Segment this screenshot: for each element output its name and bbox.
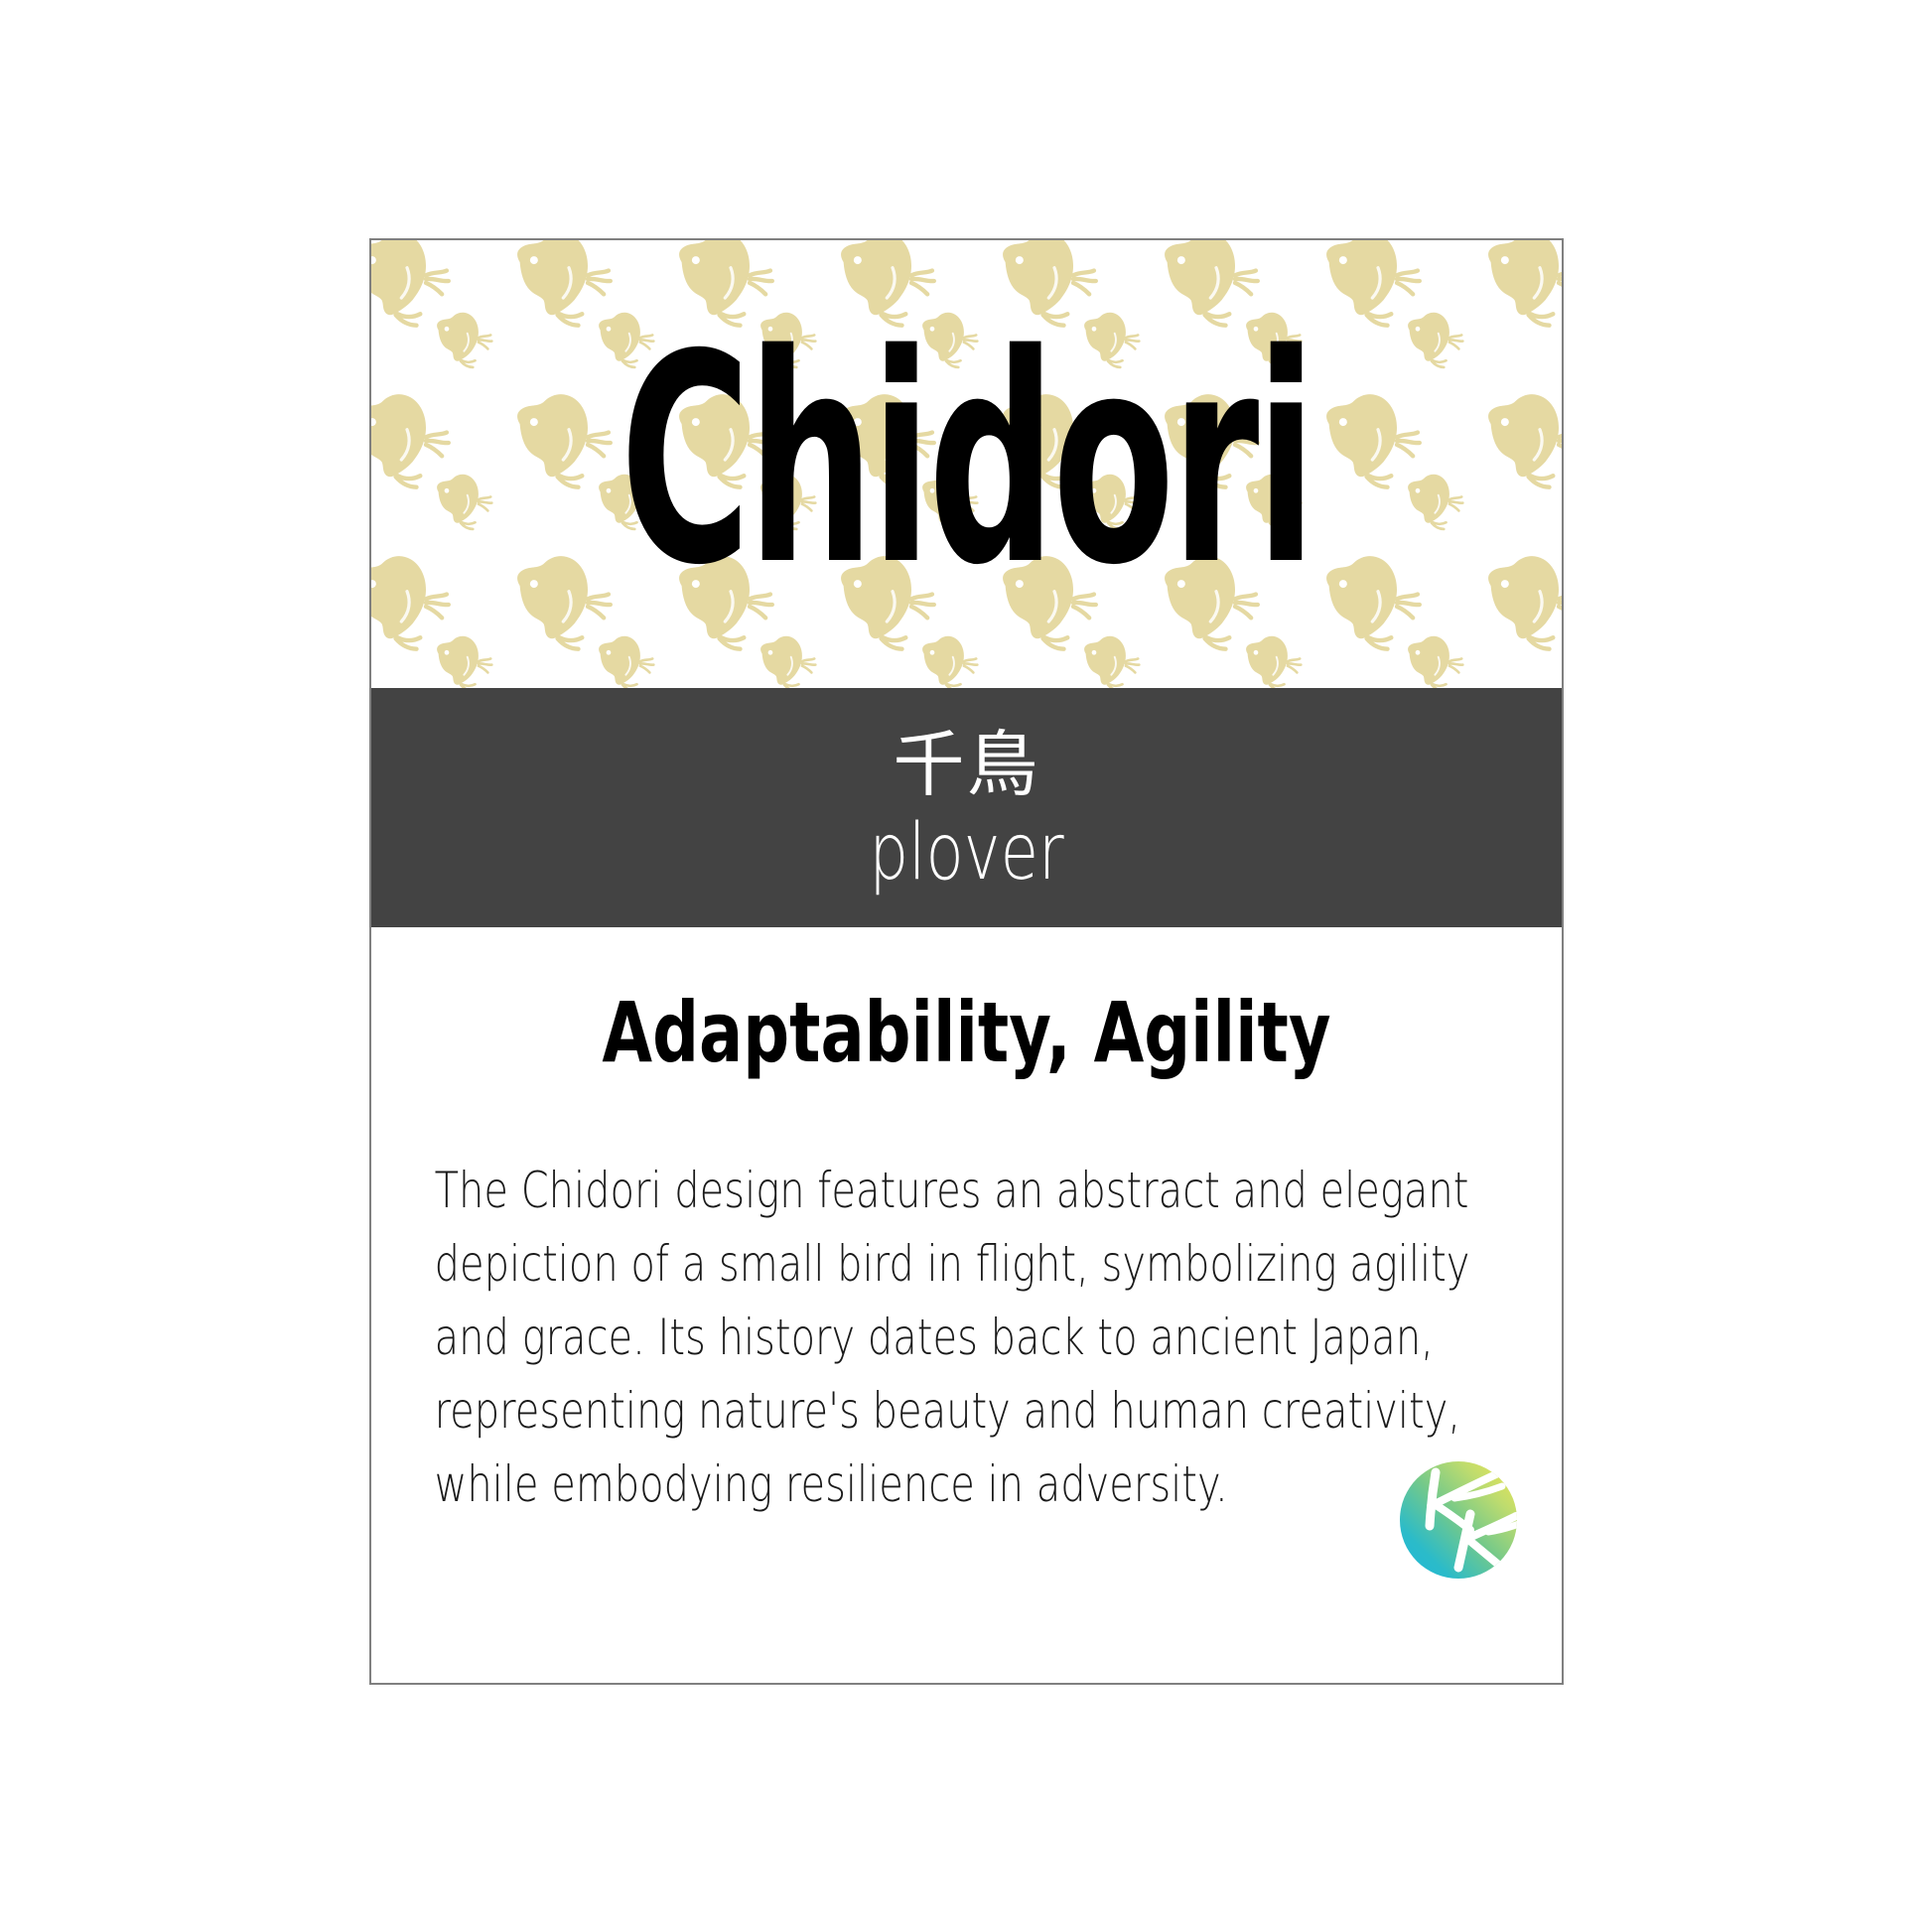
- meaning-title: Adaptability, Agility: [550, 983, 1383, 1082]
- pattern-header: Chidori: [371, 240, 1562, 688]
- description-text: The Chidori design features an abstract …: [433, 1154, 1502, 1521]
- page-title: Chidori: [598, 248, 1335, 675]
- japanese-name: 千鳥: [893, 722, 1039, 807]
- card-body: Adaptability, Agility The Chidori design…: [371, 927, 1562, 1683]
- chidori-info-card: Chidori 千鳥 plover Adaptability, Agility …: [369, 238, 1564, 1685]
- name-banner: 千鳥 plover: [371, 688, 1562, 927]
- kk-monogram-logo-icon: [1393, 1454, 1524, 1586]
- english-name: plover: [869, 807, 1063, 898]
